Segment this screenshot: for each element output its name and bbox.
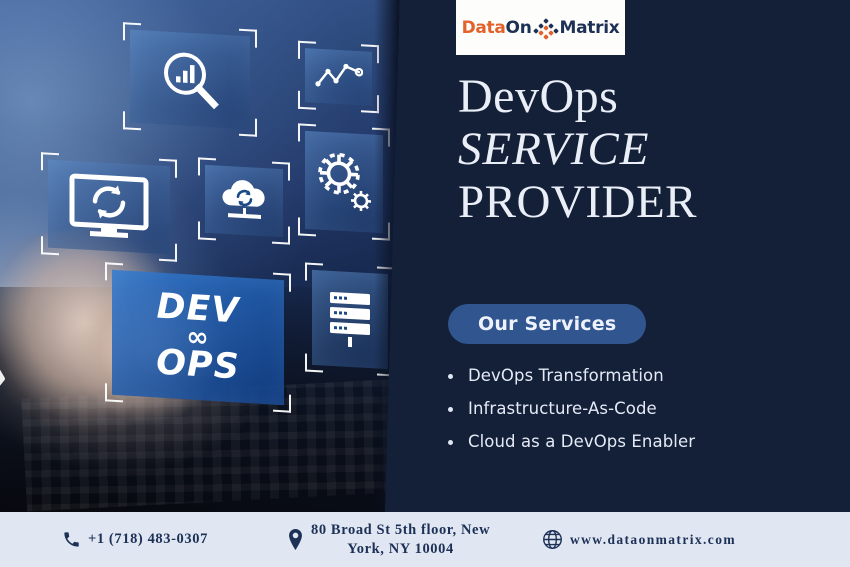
logo-matrix-text: Matrix [560, 18, 620, 38]
devops-ops-text: OPS [156, 346, 240, 385]
our-services-badge[interactable]: Our Services [448, 304, 646, 344]
service-label: Infrastructure-As-Code [468, 399, 657, 418]
list-item: Cloud as a DevOps Enabler [444, 432, 695, 451]
cloud-sync-icon [205, 165, 283, 237]
tile-cloud-sync [205, 165, 283, 237]
tile-gears [305, 131, 383, 233]
address-text: 80 Broad St 5th floor, New York, NY 1000… [311, 521, 490, 559]
tile-devops: DEV ∞ OPS [112, 270, 284, 406]
tile-line-graph [305, 48, 372, 106]
bullet-icon [448, 440, 453, 445]
footer-address[interactable]: 80 Broad St 5th floor, New York, NY 1000… [287, 521, 523, 559]
bullet-icon [448, 407, 453, 412]
brand-logo[interactable]: Data On Matrix [456, 0, 625, 55]
line-graph-icon [305, 48, 372, 106]
headline-line-3: PROVIDER [458, 178, 838, 226]
logo-lockup: Data On Matrix [462, 17, 620, 39]
photo-edge-shade [374, 0, 400, 512]
devops-service-banner: › [0, 0, 850, 567]
phone-icon [62, 530, 81, 549]
logo-on-text: On [506, 18, 532, 38]
bullet-icon [448, 374, 453, 379]
footer-phone[interactable]: +1 (718) 483-0307 [62, 530, 208, 549]
map-pin-icon [287, 529, 304, 550]
page-title: DevOps SERVICE PROVIDER [458, 72, 838, 226]
contact-footer: +1 (718) 483-0307 80 Broad St 5th floor,… [0, 512, 850, 567]
address-line-1: 80 Broad St 5th floor, New [311, 521, 490, 540]
tile-magnifier-bar-chart [130, 30, 250, 130]
devops-tile-text: DEV ∞ OPS [112, 270, 284, 406]
list-item: Infrastructure-As-Code [444, 399, 695, 418]
tile-monitor-sync [48, 160, 170, 255]
footer-website[interactable]: www.dataonmatrix.com [542, 529, 736, 550]
globe-icon [542, 529, 563, 550]
service-label: Cloud as a DevOps Enabler [468, 432, 695, 451]
headline-line-1: DevOps [458, 72, 838, 121]
gears-icon [305, 131, 383, 233]
address-line-2: York, NY 10004 [311, 540, 490, 559]
magnifier-bar-chart-icon [130, 30, 250, 130]
list-item: DevOps Transformation [444, 366, 695, 385]
services-list: DevOps Transformation Infrastructure-As-… [444, 366, 695, 465]
website-url: www.dataonmatrix.com [570, 532, 736, 548]
monitor-sync-icon [48, 160, 170, 255]
headline-line-2: SERVICE [458, 125, 838, 173]
diamond-dots-icon [533, 17, 559, 39]
phone-number: +1 (718) 483-0307 [88, 531, 208, 548]
logo-data-text: Data [462, 18, 506, 38]
service-label: DevOps Transformation [468, 366, 664, 385]
hero-photo: › [0, 0, 400, 512]
